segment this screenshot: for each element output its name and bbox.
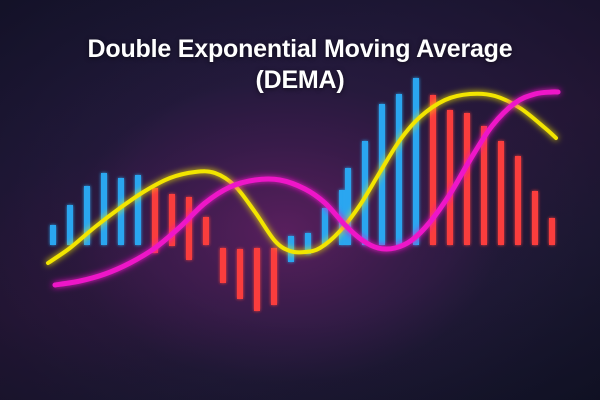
price-bar <box>413 78 419 245</box>
price-bar <box>498 141 504 245</box>
price-bar <box>464 113 470 245</box>
price-bar <box>345 168 351 245</box>
dema-chart-graphic <box>0 0 600 400</box>
price-bar <box>67 205 73 245</box>
price-bar <box>203 217 209 245</box>
moving-average-line <box>48 94 556 263</box>
price-bar <box>152 188 158 253</box>
price-bar <box>135 175 141 245</box>
price-bar <box>549 218 555 245</box>
price-bar <box>237 249 243 299</box>
price-bar <box>254 248 260 311</box>
price-bar <box>447 110 453 245</box>
price-bar <box>396 94 402 245</box>
price-bar <box>101 173 107 245</box>
price-bar <box>532 191 538 245</box>
price-bars-group <box>50 78 555 311</box>
price-bar <box>186 197 192 260</box>
price-bar <box>271 248 277 305</box>
price-bar <box>50 225 56 245</box>
price-bar <box>220 248 226 283</box>
price-bar <box>322 208 328 245</box>
price-bar <box>515 156 521 245</box>
price-bar <box>118 178 124 245</box>
chart-canvas: Double Exponential Moving Average (DEMA) <box>0 0 600 400</box>
